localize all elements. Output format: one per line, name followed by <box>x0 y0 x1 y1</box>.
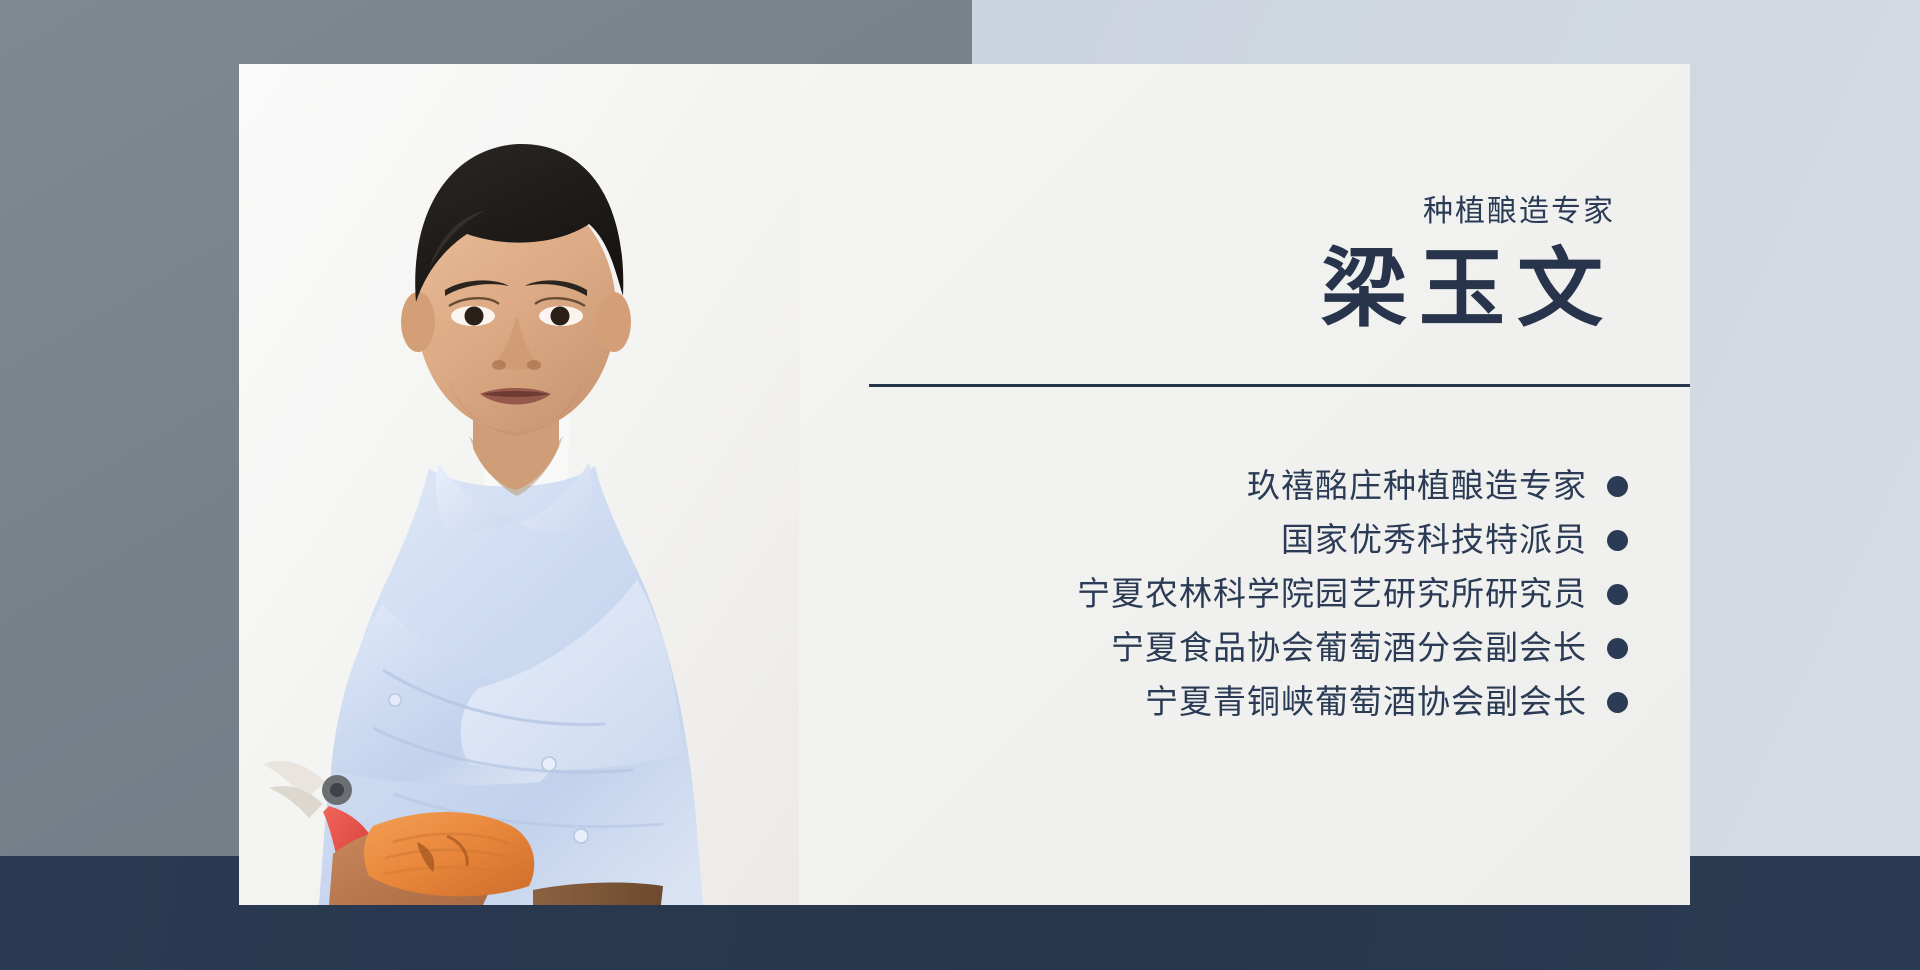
list-item: 玖禧酩庄种植酿造专家 <box>988 459 1628 513</box>
bullet-dot-icon <box>1607 476 1628 497</box>
person-name: 梁玉文 <box>1321 240 1615 338</box>
list-item: 宁夏食品协会葡萄酒分会副会长 <box>988 621 1628 675</box>
list-item: 宁夏青铜峡葡萄酒协会副会长 <box>988 675 1628 729</box>
bullet-dot-icon <box>1607 692 1628 713</box>
poster-stage: 种植酿造专家 梁玉文 玖禧酩庄种植酿造专家 国家优秀科技特派员 宁夏农林科学院园… <box>0 0 1920 970</box>
credential-text: 宁夏食品协会葡萄酒分会副会长 <box>1111 628 1587 668</box>
credential-text: 宁夏青铜峡葡萄酒协会副会长 <box>1145 682 1587 722</box>
credentials-list: 玖禧酩庄种植酿造专家 国家优秀科技特派员 宁夏农林科学院园艺研究所研究员 宁夏食… <box>988 459 1628 729</box>
shirt-button <box>542 757 556 771</box>
info-column: 种植酿造专家 梁玉文 玖禧酩庄种植酿造专家 国家优秀科技特派员 宁夏农林科学院园… <box>999 64 1690 905</box>
eye-right <box>551 307 570 326</box>
subtitle: 种植酿造专家 <box>1423 195 1615 229</box>
portrait-illustration <box>239 64 799 905</box>
divider <box>869 383 1690 388</box>
shirt-button <box>389 694 401 706</box>
credential-text: 宁夏农林科学院园艺研究所研究员 <box>1077 574 1587 614</box>
portrait-photo <box>239 64 799 905</box>
credential-text: 国家优秀科技特派员 <box>1281 520 1587 560</box>
profile-card: 种植酿造专家 梁玉文 玖禧酩庄种植酿造专家 国家优秀科技特派员 宁夏农林科学院园… <box>239 64 1690 905</box>
bullet-dot-icon <box>1607 584 1628 605</box>
bullet-dot-icon <box>1607 638 1628 659</box>
list-item: 宁夏农林科学院园艺研究所研究员 <box>988 567 1628 621</box>
list-item: 国家优秀科技特派员 <box>988 513 1628 567</box>
shirt-button <box>574 829 588 843</box>
eye-left <box>465 307 484 326</box>
credential-text: 玖禧酩庄种植酿造专家 <box>1247 466 1587 506</box>
bullet-dot-icon <box>1607 530 1628 551</box>
divider-line <box>869 384 1690 387</box>
